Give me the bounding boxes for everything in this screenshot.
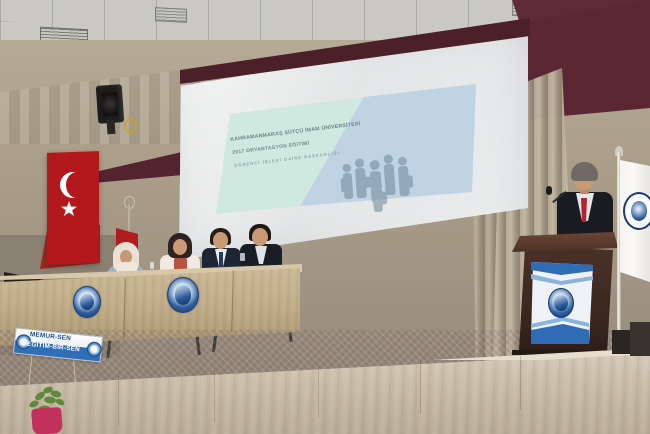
- flower-pot: [31, 407, 63, 434]
- microphone-icon: [546, 186, 552, 195]
- speaker-bracket: [107, 120, 116, 135]
- crescent-cutout: [66, 172, 88, 198]
- stage-panel-seam: [214, 368, 215, 422]
- wall-loudspeaker: [96, 84, 125, 124]
- panelist-4-face: [252, 228, 268, 246]
- ceiling-vent-icon: [155, 7, 187, 23]
- ceiling-hook-icon: [124, 118, 137, 134]
- star-icon: [60, 200, 78, 218]
- banner-line-2: EĞİTİM-BİR-SEN: [27, 341, 81, 354]
- speaker-necktie: [581, 198, 587, 222]
- egitim-bir-sen-logo-icon: [86, 341, 102, 357]
- university-seal-icon: [623, 192, 650, 230]
- university-seal-icon: [167, 277, 199, 313]
- water-glass: [150, 262, 154, 269]
- stage-panel-seam: [520, 356, 521, 410]
- panelist-2-face: [173, 239, 187, 255]
- banner-line-1: MEMUR-SEN: [30, 331, 72, 342]
- panelist-3-face: [213, 232, 228, 249]
- floor-equipment: [630, 322, 650, 356]
- water-glass: [240, 253, 245, 261]
- speaker-hair: [571, 162, 598, 181]
- student-silhouettes-graphic: [332, 149, 422, 219]
- university-seal-icon: [73, 286, 101, 318]
- conference-hall-photo: KAHRAMANMARAŞ SÜTÇÜ İMAM ÜNİVERSİTESİ 20…: [0, 0, 650, 434]
- university-seal-icon: [548, 288, 574, 318]
- floor-equipment: [612, 330, 630, 354]
- stage-panel-seam: [118, 372, 119, 426]
- stage-panel-seam: [420, 360, 421, 414]
- stage-panel-seam: [318, 364, 319, 418]
- panelist-3-tie: [219, 252, 223, 267]
